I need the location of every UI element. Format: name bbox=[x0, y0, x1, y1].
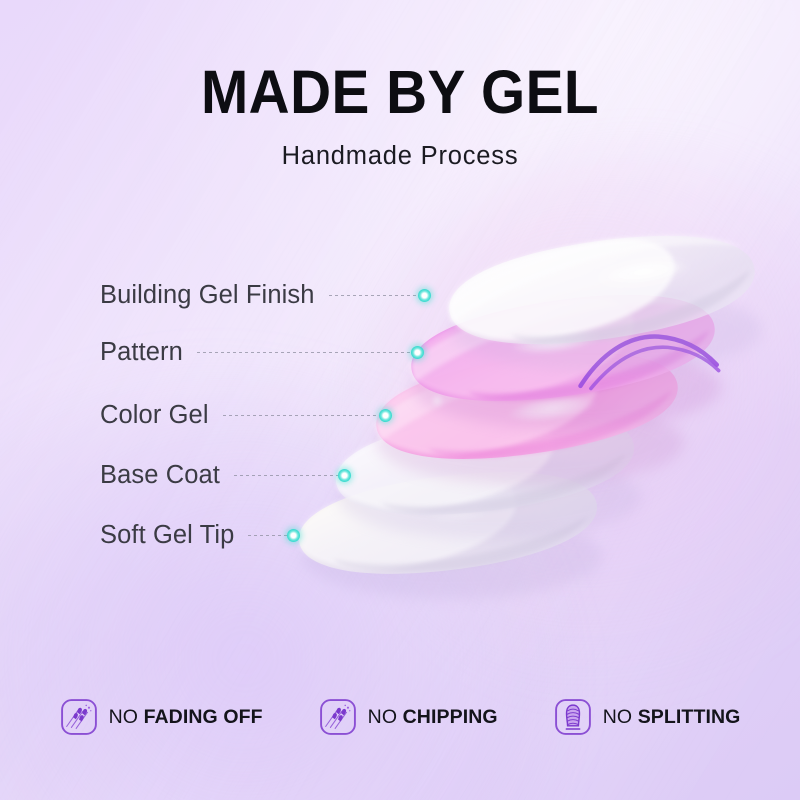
leader-line-soft-gel-tip bbox=[248, 535, 288, 536]
layer-label-pattern: Pattern bbox=[100, 338, 183, 367]
feature-label-no-splitting: NO SPLITTING bbox=[603, 706, 741, 729]
leader-line-building-gel-finish bbox=[329, 295, 419, 296]
layer-label-soft-gel-tip: Soft Gel Tip bbox=[100, 521, 234, 550]
nail-polish-streaks-icon bbox=[319, 698, 357, 736]
layer-label-building-gel-finish: Building Gel Finish bbox=[100, 281, 315, 310]
feature-prefix: NO bbox=[368, 706, 397, 728]
feature-emphasis: CHIPPING bbox=[403, 706, 498, 728]
feature-label-no-chipping: NO CHIPPING bbox=[368, 706, 498, 729]
layer-row-color-gel[interactable]: Color Gel bbox=[100, 398, 392, 432]
marker-dot-soft-gel-tip bbox=[287, 529, 300, 542]
feature-badge-no-chipping[interactable]: NO CHIPPING bbox=[319, 698, 498, 736]
poster: MADE BY GEL Handmade Process bbox=[0, 0, 800, 800]
marker-dot-color-gel bbox=[379, 409, 392, 422]
marker-dot-building-gel-finish bbox=[418, 289, 431, 302]
feature-emphasis: SPLITTING bbox=[638, 706, 741, 728]
feature-prefix: NO bbox=[109, 706, 138, 728]
feature-badge-list: NO FADING OFF bbox=[0, 698, 800, 736]
layer-row-pattern[interactable]: Pattern bbox=[100, 335, 424, 369]
feature-prefix: NO bbox=[603, 706, 632, 728]
nail-polish-streaks-icon bbox=[60, 698, 98, 736]
leader-line-color-gel bbox=[223, 415, 380, 416]
feature-badge-no-fading-off[interactable]: NO FADING OFF bbox=[60, 698, 263, 736]
layer-row-soft-gel-tip[interactable]: Soft Gel Tip bbox=[100, 518, 300, 552]
leader-line-base-coat bbox=[234, 475, 339, 476]
marker-dot-base-coat bbox=[338, 469, 351, 482]
feature-emphasis: FADING OFF bbox=[144, 706, 263, 728]
layer-label-color-gel: Color Gel bbox=[100, 401, 209, 430]
marker-dot-pattern bbox=[411, 346, 424, 359]
layer-row-base-coat[interactable]: Base Coat bbox=[100, 458, 351, 492]
fingernail-ridges-icon bbox=[554, 698, 592, 736]
layer-label-list: Building Gel Finish Pattern Color Gel Ba… bbox=[0, 0, 800, 800]
layer-row-building-gel-finish[interactable]: Building Gel Finish bbox=[100, 278, 431, 312]
leader-line-pattern bbox=[197, 352, 412, 353]
layer-label-base-coat: Base Coat bbox=[100, 461, 220, 490]
feature-label-no-fading-off: NO FADING OFF bbox=[109, 706, 263, 729]
feature-badge-no-splitting[interactable]: NO SPLITTING bbox=[554, 698, 741, 736]
